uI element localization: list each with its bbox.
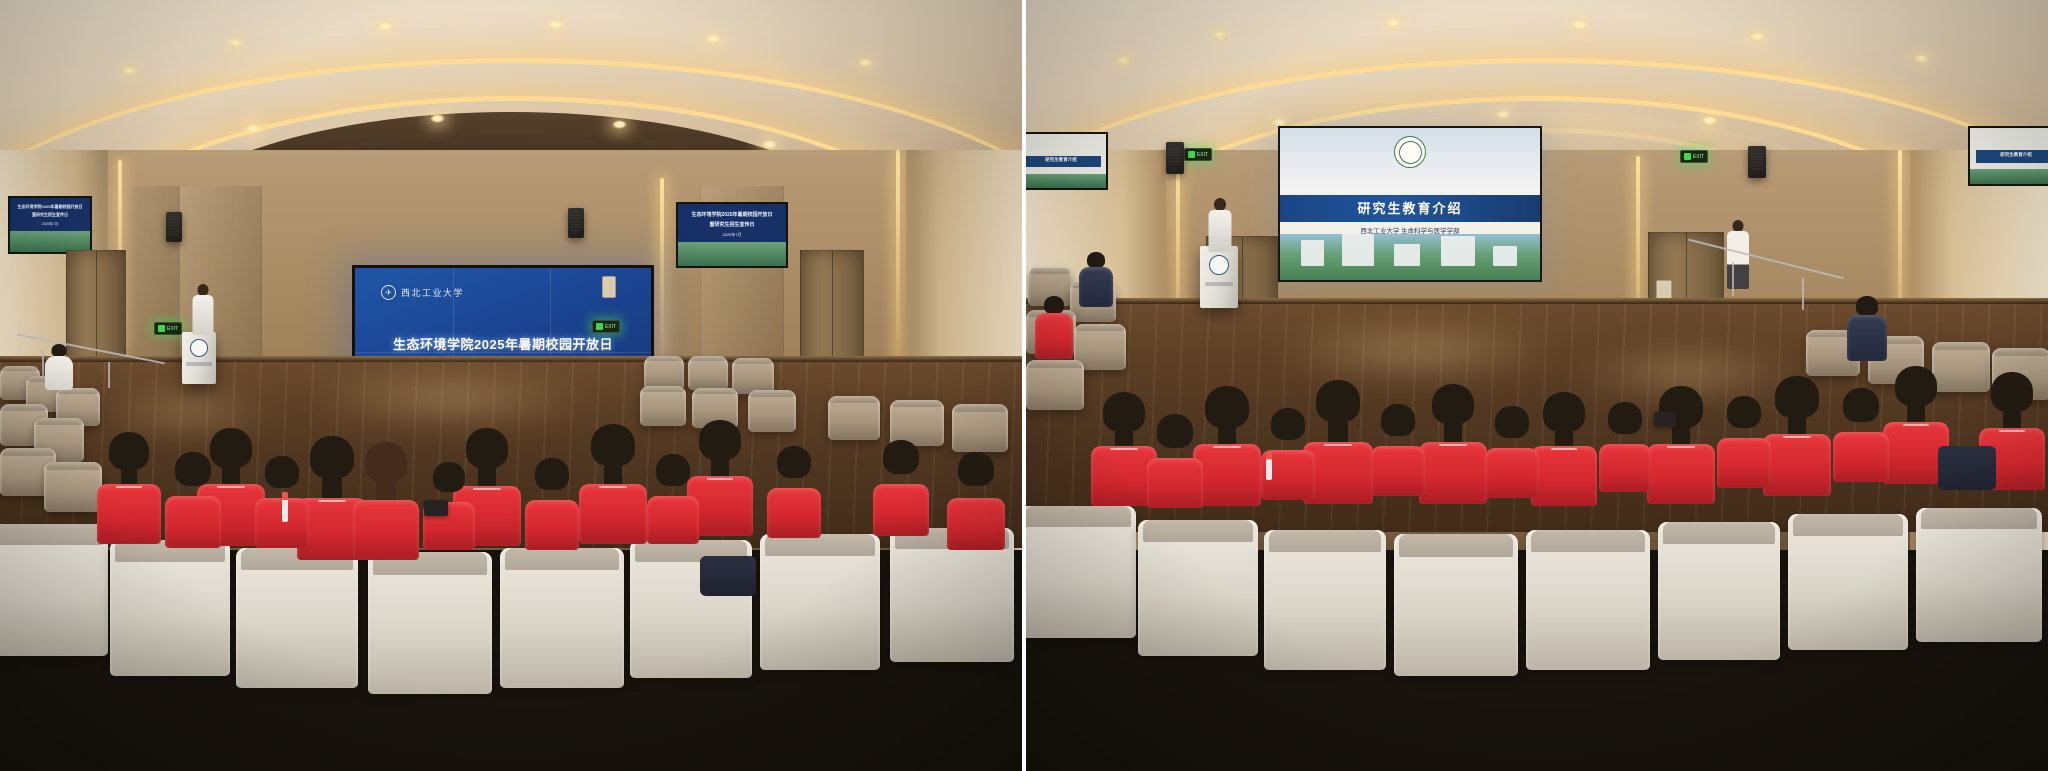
- attendee: [44, 344, 74, 390]
- downlight-icon: [1386, 18, 1401, 27]
- side-monitor-right-title: 研究生教育介绍: [1970, 152, 2048, 158]
- attendee: [1370, 404, 1426, 496]
- seat: [1916, 508, 2042, 642]
- attendee: [646, 454, 700, 544]
- attendee: [1846, 296, 1888, 360]
- speaker-body: [1209, 210, 1232, 252]
- seat: [1138, 520, 1258, 656]
- attendee-body: [1727, 231, 1749, 289]
- seat: [1264, 530, 1386, 670]
- railing-post: [1802, 278, 1804, 310]
- wall-speaker-right: [1748, 146, 1766, 178]
- speaker-at-podium: [192, 284, 214, 336]
- seat: [760, 534, 880, 670]
- downlight-icon: [1496, 110, 1511, 119]
- seat: [1026, 360, 1084, 410]
- screen-logo: ✈ 西北工业大学: [381, 285, 464, 300]
- attendee: [1646, 386, 1716, 502]
- seat: [500, 548, 624, 688]
- attendee: [1146, 414, 1204, 508]
- attendee: [578, 424, 648, 542]
- seat: [1394, 534, 1518, 676]
- attendee: [164, 452, 222, 548]
- side-monitor-left: 研究生教育介绍: [1026, 132, 1108, 190]
- downlight-icon: [612, 120, 627, 129]
- attendee: [1418, 384, 1488, 502]
- attendee: [1078, 252, 1114, 306]
- tablet-device: [1654, 412, 1676, 427]
- stage-edge: [1026, 298, 2048, 304]
- seat: [44, 462, 102, 512]
- wall-speaker-right: [568, 208, 584, 238]
- door-left[interactable]: [66, 250, 126, 370]
- downlight-icon: [378, 22, 393, 31]
- exit-running-man-icon: [158, 325, 165, 332]
- downlight-icon: [858, 58, 873, 67]
- side-monitor-right-date: 2025年7月: [678, 232, 786, 238]
- downlight-icon: [122, 66, 137, 75]
- attendee: [1832, 388, 1890, 482]
- wall-speaker-left: [1166, 142, 1184, 174]
- seat: [748, 390, 796, 432]
- railing-post: [1732, 262, 1734, 296]
- slide-campus-photo-strip: [1280, 234, 1540, 280]
- attendee: [1530, 392, 1598, 504]
- wall-control-plate[interactable]: [602, 276, 616, 298]
- downlight-icon: [1914, 54, 1929, 63]
- downlight-icon: [228, 38, 243, 47]
- attendee: [1716, 396, 1772, 488]
- seat: [1658, 522, 1780, 660]
- seat: [952, 404, 1008, 452]
- exit-sign-label: EXIT: [605, 324, 616, 330]
- podium-crest-icon: [1209, 255, 1229, 275]
- water-bottle: [282, 492, 288, 522]
- attendee: [946, 452, 1006, 550]
- speaker-body: [193, 295, 214, 335]
- attendee: [872, 440, 930, 536]
- seat: [640, 386, 686, 426]
- side-monitor-right-image: [678, 242, 786, 266]
- floor-reflection: [300, 372, 600, 424]
- downlight-icon: [1750, 32, 1765, 41]
- nwpu-crest-icon: ✈: [381, 285, 396, 300]
- attendee: [352, 442, 420, 558]
- side-monitor-left-image: [10, 231, 90, 252]
- right-photo: 研究生教育介绍 研究生教育介绍 研究生教育介绍 西北工业大学 生命科学与医学学部…: [1026, 0, 2048, 771]
- downlight-icon: [1116, 56, 1131, 65]
- water-bottle: [1266, 452, 1272, 480]
- side-monitor-right-image: [1970, 169, 2048, 184]
- seat: [732, 358, 774, 394]
- attendee: [1762, 376, 1832, 494]
- exit-sign-label: EXIT: [1693, 154, 1704, 160]
- wall-light-strip: [660, 178, 664, 358]
- left-photo: 生态环境学院2025年暑期校园开放日 暨研究生招生宣传日 2025年7月 生态环…: [0, 0, 1022, 771]
- backpack: [700, 556, 756, 596]
- exit-sign-right: EXIT: [1680, 150, 1708, 163]
- seat: [1788, 514, 1908, 650]
- seat: [828, 396, 880, 440]
- exit-sign-left: EXIT: [154, 322, 182, 335]
- side-monitor-right-subtitle: 暨研究生招生宣传日: [678, 221, 786, 228]
- seat: [1026, 506, 1136, 638]
- floor-reflection: [96, 392, 276, 432]
- screen-logo-wordmark: 西北工业大学: [401, 286, 464, 299]
- wall-speaker-left: [166, 212, 182, 242]
- seat: [110, 540, 230, 676]
- side-monitor-left-date: 2025年7月: [10, 222, 90, 227]
- attendee: [524, 458, 580, 550]
- speaker-at-podium: [1208, 198, 1232, 252]
- downlight-icon: [706, 34, 721, 43]
- slide-banner-title: 研究生教育介绍: [1280, 195, 1540, 222]
- seat: [644, 356, 684, 390]
- side-monitor-left-title: 生态环境学院2025年暑期校园开放日: [10, 204, 90, 210]
- downlight-icon: [246, 124, 261, 133]
- attendee: [766, 446, 822, 538]
- attendee: [1484, 406, 1540, 498]
- photo-divider: [1022, 0, 1026, 771]
- side-monitor-right: 生态环境学院2025年暑期校园开放日 暨研究生招生宣传日 2025年7月: [676, 202, 788, 268]
- floor-reflection: [1266, 322, 1566, 378]
- downlight-icon: [548, 20, 563, 29]
- side-monitor-right: 研究生教育介绍: [1968, 126, 2048, 186]
- seat: [368, 552, 492, 694]
- exit-running-man-icon: [1188, 151, 1195, 158]
- university-seal-icon: [1394, 136, 1426, 168]
- downlight-icon: [1212, 30, 1227, 39]
- attendee: [1598, 402, 1652, 492]
- podium-crest-icon: [190, 339, 208, 357]
- exit-sign-left: EXIT: [1184, 148, 1212, 161]
- screenshot-root: 生态环境学院2025年暑期校园开放日 暨研究生招生宣传日 2025年7月 生态环…: [0, 0, 2048, 771]
- side-monitor-left-image: [1026, 174, 1106, 188]
- seat: [236, 548, 358, 688]
- attendee: [1034, 296, 1074, 358]
- downlight-icon: [1702, 116, 1717, 125]
- seat: [688, 356, 728, 390]
- screen-title-line1: 生态环境学院2025年暑期校园开放日: [355, 334, 651, 353]
- seat: [0, 524, 108, 656]
- downlight-icon: [430, 114, 445, 123]
- seat: [1526, 530, 1650, 670]
- exit-sign-label: EXIT: [1197, 152, 1208, 158]
- side-monitor-right-title: 生态环境学院2025年暑期校园开放日: [678, 211, 786, 218]
- tablet-device: [424, 500, 448, 516]
- attendee: [96, 432, 162, 542]
- side-monitor-left-title: 研究生教育介绍: [1026, 157, 1106, 163]
- exit-sign-label: EXIT: [167, 326, 178, 332]
- backpack: [1938, 446, 1996, 490]
- side-monitor-left-subtitle: 暨研究生招生宣传日: [10, 212, 90, 218]
- wall-light-strip: [896, 150, 900, 360]
- podium: [1200, 246, 1238, 308]
- downlight-icon: [1572, 20, 1587, 29]
- slide-title-band: 研究生教育介绍: [1280, 195, 1540, 222]
- exit-running-man-icon: [596, 323, 603, 330]
- railing-post: [108, 362, 110, 388]
- exit-running-man-icon: [1684, 153, 1691, 160]
- podium: [182, 332, 216, 384]
- downlight-icon: [762, 140, 777, 149]
- main-led-screen: 研究生教育介绍 西北工业大学 生命科学与医学学部 生态环境学院 2025年7月: [1278, 126, 1542, 282]
- side-monitor-left: 生态环境学院2025年暑期校园开放日 暨研究生招生宣传日 2025年7月: [8, 196, 92, 254]
- exit-sign-right: EXIT: [592, 320, 620, 333]
